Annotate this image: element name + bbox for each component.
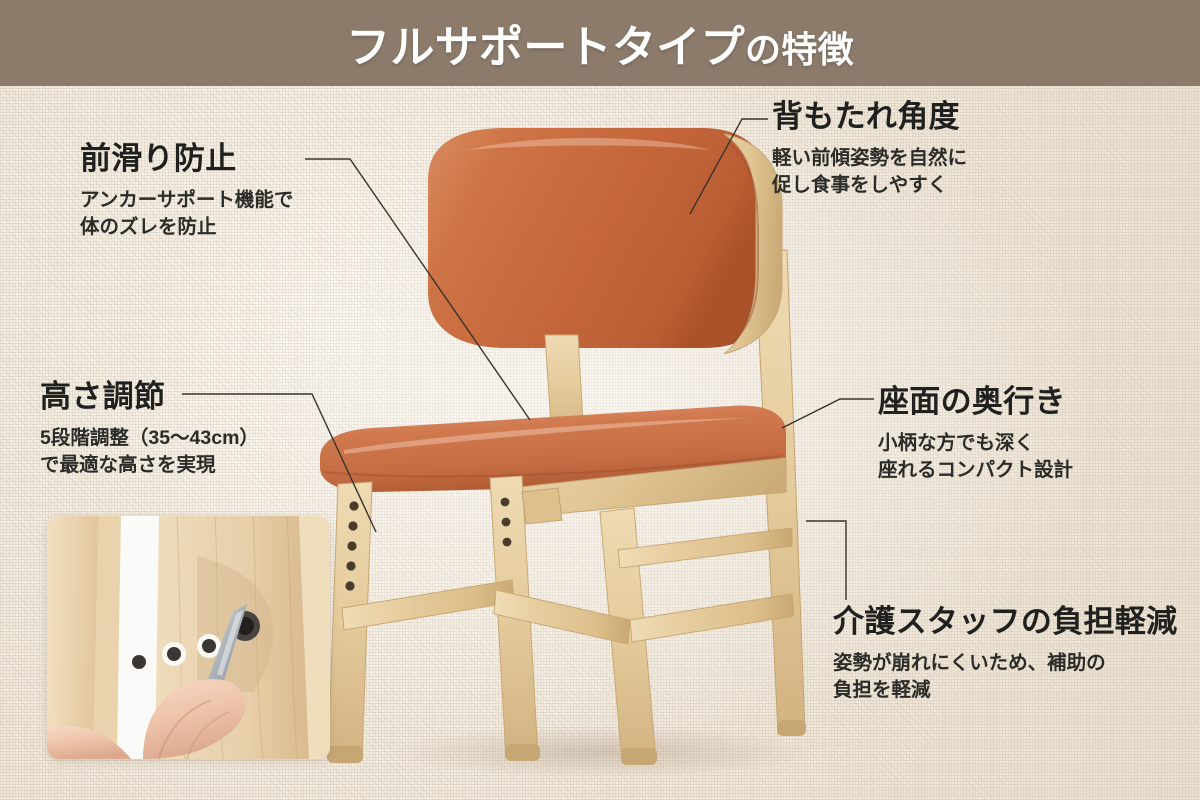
page-title: フルサポートタイプの特徴 — [346, 11, 854, 75]
chair-seat-bracket — [522, 488, 562, 524]
callout-title: 座面の奥行き — [878, 385, 1073, 420]
callout-body-line: 小柄な方でも深く — [878, 430, 1073, 458]
callout-body-line: 5段階調整（35〜43cm） — [40, 425, 259, 453]
product-chair-image — [300, 120, 900, 780]
chair-ground-shadow — [390, 726, 810, 778]
callout-title: 介護スタッフの負担軽減 — [833, 605, 1177, 640]
chair-stretcher-rear — [618, 528, 792, 568]
callout-body: アンカーサポート機能で 体のズレを防止 — [80, 187, 293, 242]
callout-body: 5段階調整（35〜43cm） で最適な高さを実現 — [40, 425, 259, 480]
callout-title: 高さ調節 — [40, 380, 259, 415]
chair-backrest-cushion — [428, 128, 770, 348]
chair-foot-front-inner — [505, 744, 540, 761]
callout-seat-depth: 座面の奥行き 小柄な方でも深く 座れるコンパクト設計 — [878, 385, 1073, 485]
chair-stretcher-side-right — [630, 594, 794, 642]
callout-body: 姿勢が崩れにくいため、補助の 負担を軽減 — [833, 650, 1177, 705]
callout-body-line: 負担を軽減 — [833, 677, 1177, 705]
chair-rear-foot-right — [777, 720, 806, 736]
callout-body: 小柄な方でも深く 座れるコンパクト設計 — [878, 430, 1073, 485]
header-band: フルサポートタイプの特徴 — [0, 0, 1200, 86]
callout-body-line: 座れるコンパクト設計 — [878, 457, 1073, 485]
callout-backrest-angle: 背もたれ角度 軽い前傾姿勢を自然に 促し食事をしやすく — [772, 100, 967, 200]
callout-body-line: で最適な高さを実現 — [40, 452, 259, 480]
page-title-main: フルサポートタイプ — [346, 23, 745, 72]
callout-body-line: 促し食事をしやすく — [772, 172, 967, 200]
callout-height-adjustment: 高さ調節 5段階調整（35〜43cm） で最適な高さを実現 — [40, 380, 259, 480]
callout-body-line: 姿勢が崩れにくいため、補助の — [833, 650, 1177, 678]
page-title-suffix: の特徴 — [745, 29, 854, 70]
callout-body-line: アンカーサポート機能で — [80, 187, 293, 215]
feature-infographic: フルサポートタイプの特徴 — [0, 0, 1200, 800]
callout-body-line: 軽い前傾姿勢を自然に — [772, 145, 967, 173]
height-adjustment-closeup-photo — [47, 516, 330, 759]
chair-foot-front-left — [327, 746, 363, 763]
callout-front-slip-prevention: 前滑り防止 アンカーサポート機能で 体のズレを防止 — [80, 142, 293, 242]
callout-title: 背もたれ角度 — [772, 100, 967, 135]
callout-body: 軽い前傾姿勢を自然に 促し食事をしやすく — [772, 145, 967, 200]
chair-foot-rear-left — [621, 748, 657, 765]
callout-title: 前滑り防止 — [80, 142, 293, 177]
callout-caregiver-burden: 介護スタッフの負担軽減 姿勢が崩れにくいため、補助の 負担を軽減 — [833, 605, 1177, 705]
callout-body-line: 体のズレを防止 — [80, 214, 293, 242]
